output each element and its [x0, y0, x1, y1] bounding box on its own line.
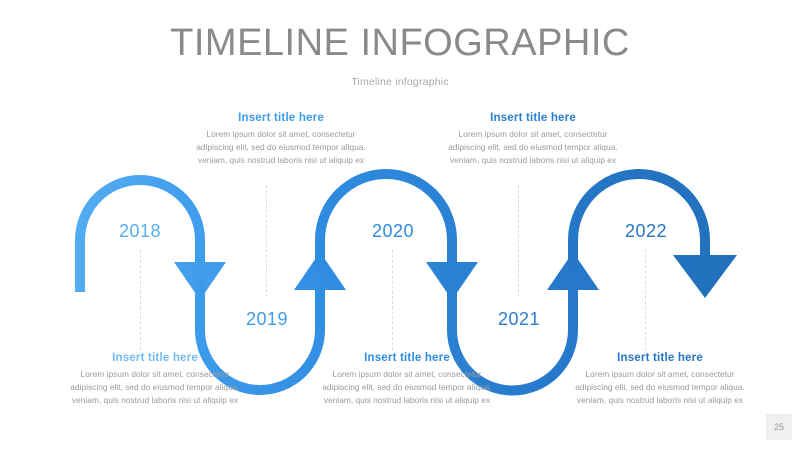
text-block-4-title: Insert title here — [447, 112, 619, 124]
connector-line-2020 — [392, 250, 393, 350]
slide-canvas: TIMELINE INFOGRAPHIC Timeline infographi… — [0, 0, 800, 450]
text-block-2: Insert title here Lorem ipsum dolor sit … — [195, 112, 367, 166]
text-block-5-body: Lorem ipsum dolor sit amet, consectetur … — [574, 368, 746, 406]
year-label-2022: 2022 — [586, 221, 706, 242]
year-label-2020: 2020 — [333, 221, 453, 242]
connector-line-2021 — [518, 185, 519, 297]
page-title: TIMELINE INFOGRAPHIC — [0, 24, 800, 64]
connector-line-2019 — [266, 185, 267, 297]
connector-line-2018 — [140, 250, 141, 350]
page-subtitle: Timeline infographic — [0, 76, 800, 88]
text-block-5: Insert title here Lorem ipsum dolor sit … — [574, 352, 746, 406]
page-number: 25 — [766, 414, 792, 440]
text-block-2-body: Lorem ipsum dolor sit amet, consectetur … — [195, 128, 367, 166]
text-block-3-body: Lorem ipsum dolor sit amet, consectetur … — [321, 368, 493, 406]
text-block-5-title: Insert title here — [574, 352, 746, 364]
text-block-3-title: Insert title here — [321, 352, 493, 364]
text-block-1-title: Insert title here — [69, 352, 241, 364]
connector-line-2022 — [645, 250, 646, 350]
text-block-3: Insert title here Lorem ipsum dolor sit … — [321, 352, 493, 406]
text-block-4-body: Lorem ipsum dolor sit amet, consectetur … — [447, 128, 619, 166]
text-block-4: Insert title here Lorem ipsum dolor sit … — [447, 112, 619, 166]
text-block-2-title: Insert title here — [195, 112, 367, 124]
year-label-2021: 2021 — [459, 309, 579, 330]
year-label-2018: 2018 — [80, 221, 200, 242]
text-block-1: Insert title here Lorem ipsum dolor sit … — [69, 352, 241, 406]
year-label-2019: 2019 — [207, 309, 327, 330]
text-block-1-body: Lorem ipsum dolor sit amet, consectetur … — [69, 368, 241, 406]
